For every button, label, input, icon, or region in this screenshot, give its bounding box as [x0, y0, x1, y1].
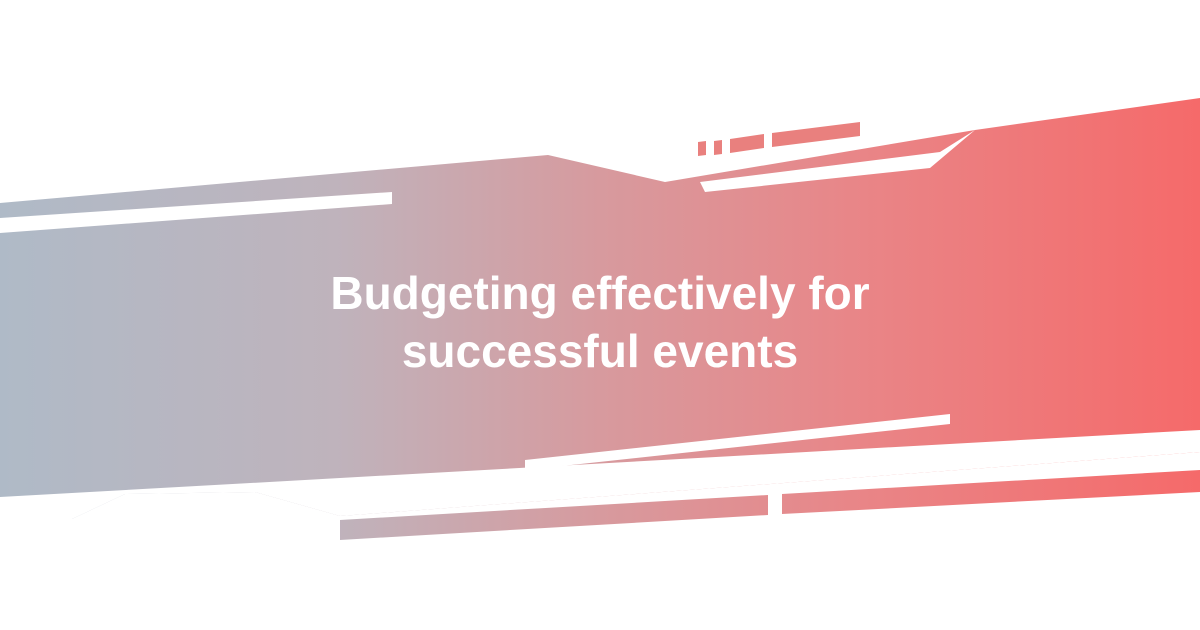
dash-mark-4 [772, 122, 860, 147]
dash-mark-3 [730, 134, 764, 153]
dash-mark-2 [714, 140, 722, 155]
banner-container: Budgeting effectively for successful eve… [0, 0, 1200, 630]
dash-marks [698, 122, 860, 156]
page-title: Budgeting effectively for successful eve… [0, 264, 1200, 380]
dash-mark-1 [698, 141, 706, 156]
